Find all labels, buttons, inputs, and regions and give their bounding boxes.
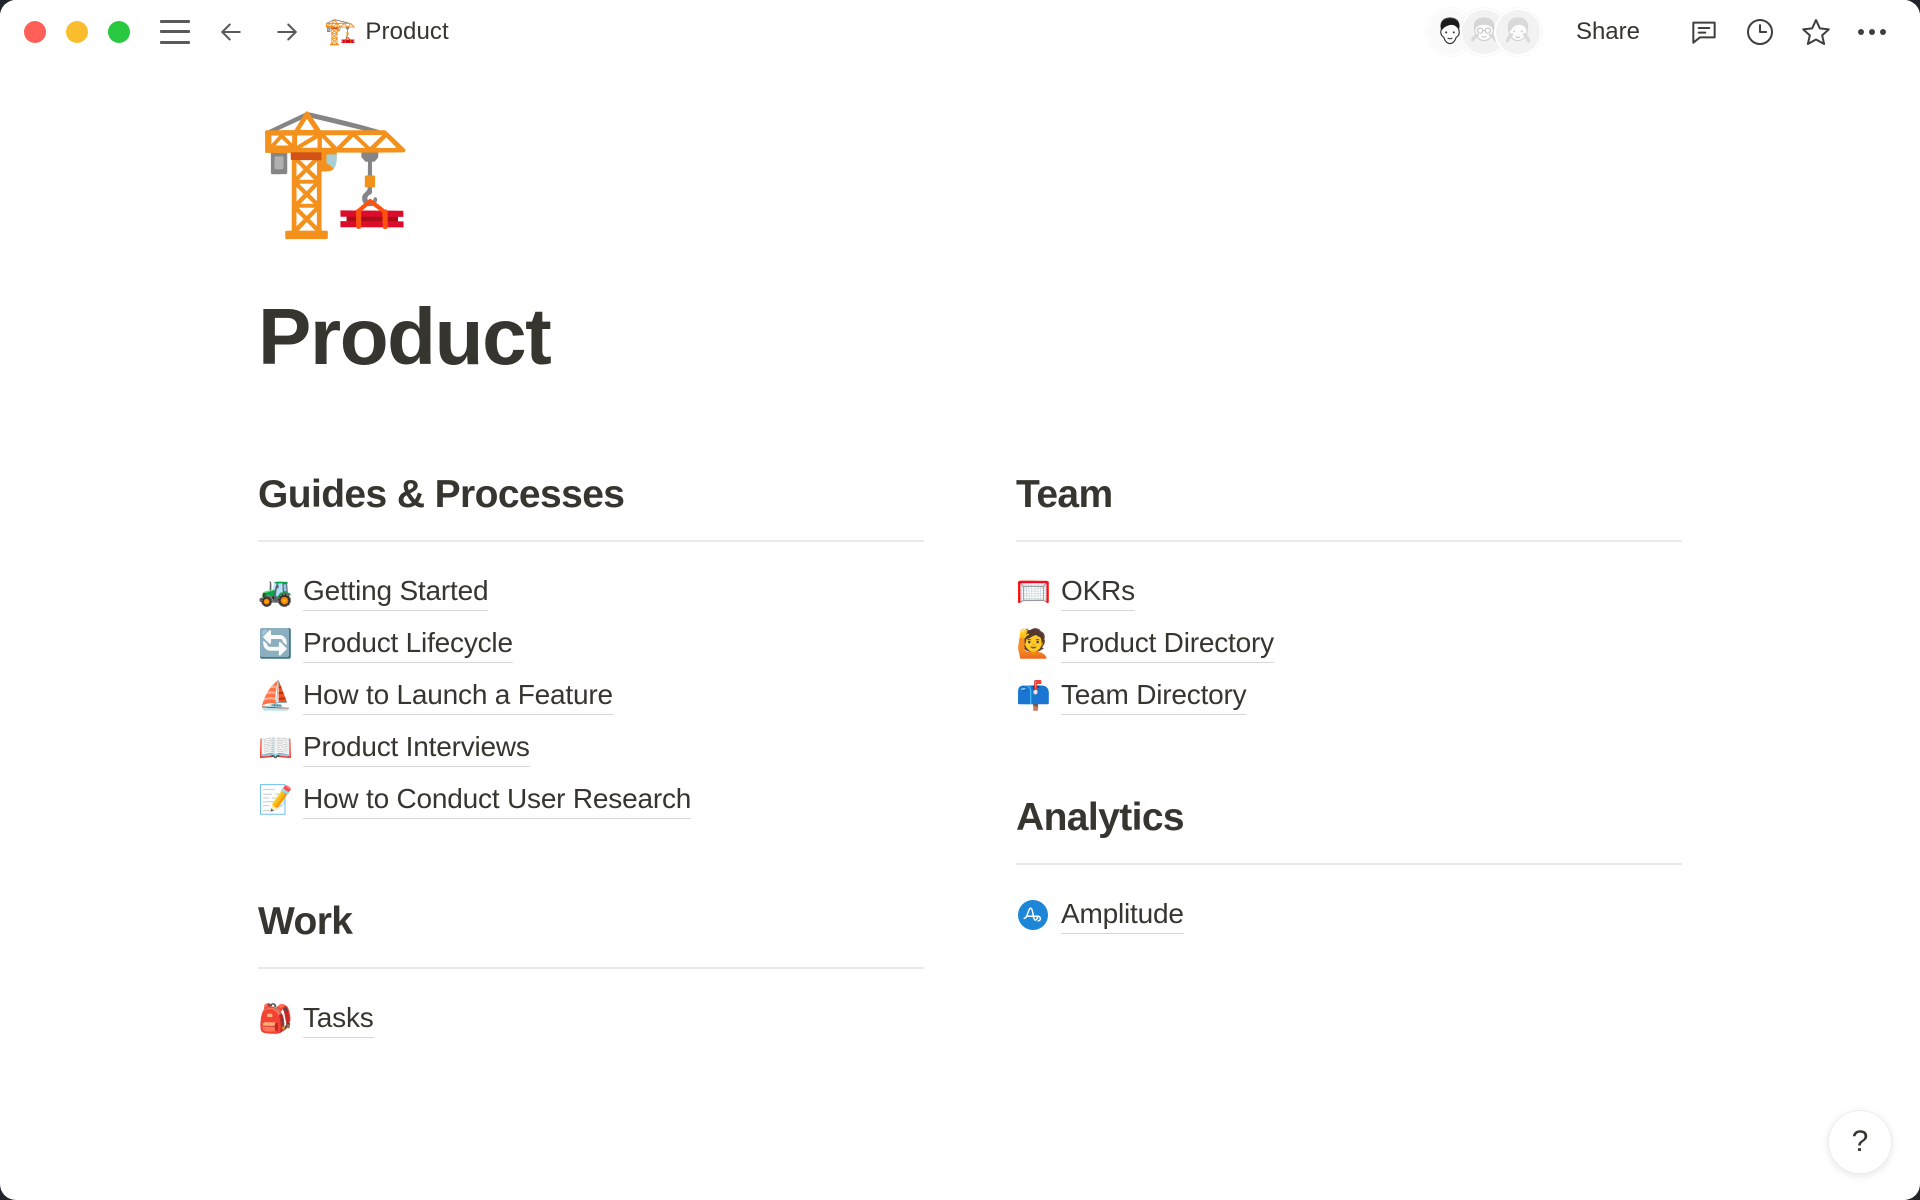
ellipsis-icon[interactable] [1850, 10, 1894, 54]
list-item[interactable]: 🎒 Tasks [258, 993, 924, 1045]
list-item[interactable]: 📫 Team Directory [1016, 670, 1682, 722]
list-item[interactable]: 🥅 OKRs [1016, 566, 1682, 618]
list-item-label[interactable]: OKRs [1061, 573, 1135, 611]
arrow-right-icon[interactable] [270, 15, 304, 49]
section-heading: Analytics [1016, 796, 1682, 841]
section-divider [1016, 540, 1682, 542]
page-title[interactable]: Product [258, 297, 1880, 377]
star-icon[interactable] [1794, 10, 1838, 54]
share-button[interactable]: Share [1576, 18, 1640, 46]
list-item-label[interactable]: Getting Started [303, 573, 488, 611]
list-item-label[interactable]: Product Interviews [303, 729, 530, 767]
titlebar-actions: Share [1426, 0, 1894, 63]
window-controls [24, 21, 130, 43]
content-columns: Guides & Processes 🚜 Getting Started 🔄 P… [258, 473, 1880, 1045]
tractor-icon: 🚜 [258, 578, 292, 606]
section-heading: Work [258, 900, 924, 945]
collaborator-avatars[interactable] [1426, 8, 1542, 56]
help-button[interactable]: ? [1828, 1110, 1892, 1174]
section-divider [258, 540, 924, 542]
mailbox-icon: 📫 [1016, 682, 1050, 710]
close-window-button[interactable] [24, 21, 46, 43]
goal-net-icon: 🥅 [1016, 578, 1050, 606]
page-content: 🏗️ Product Guides & Processes 🚜 Getting … [0, 107, 1920, 1045]
list-item-label[interactable]: Team Directory [1061, 677, 1246, 715]
backpack-icon: 🎒 [258, 1005, 292, 1033]
list-item-label[interactable]: How to Launch a Feature [303, 677, 613, 715]
section-heading: Guides & Processes [258, 473, 924, 518]
app-window: 🏗️ Product [0, 0, 1920, 1200]
list-item-label[interactable]: Amplitude [1061, 896, 1184, 934]
list-item-label[interactable]: How to Conduct User Research [303, 781, 691, 819]
sailboat-icon: ⛵ [258, 682, 292, 710]
arrows-counterclockwise-icon: 🔄 [258, 630, 292, 658]
section-heading: Team [1016, 473, 1682, 518]
titlebar: 🏗️ Product [0, 0, 1920, 63]
memo-icon: 📝 [258, 786, 292, 814]
amplitude-icon [1016, 900, 1050, 930]
list-item[interactable]: 🔄 Product Lifecycle [258, 618, 924, 670]
list-item-label[interactable]: Tasks [303, 1000, 374, 1038]
nav-icons [158, 15, 304, 49]
arrow-left-icon[interactable] [214, 15, 248, 49]
section-work: Work 🎒 Tasks [258, 900, 924, 1045]
section-divider [1016, 863, 1682, 865]
comment-icon[interactable] [1682, 10, 1726, 54]
list-item[interactable]: ⛵ How to Launch a Feature [258, 670, 924, 722]
list-item[interactable]: Amplitude [1016, 889, 1682, 941]
right-column: Team 🥅 OKRs 🙋 Product Directory 📫 Team D… [1016, 473, 1682, 1045]
section-divider [258, 967, 924, 969]
list-item[interactable]: 📝 How to Conduct User Research [258, 774, 924, 826]
section-team: Team 🥅 OKRs 🙋 Product Directory 📫 Team D… [1016, 473, 1682, 722]
list-item-label[interactable]: Product Directory [1061, 625, 1274, 663]
list-item[interactable]: 📖 Product Interviews [258, 722, 924, 774]
minimize-window-button[interactable] [66, 21, 88, 43]
section-guides-processes: Guides & Processes 🚜 Getting Started 🔄 P… [258, 473, 924, 826]
open-book-icon: 📖 [258, 734, 292, 762]
crane-icon: 🏗️ [324, 19, 356, 45]
list-item[interactable]: 🚜 Getting Started [258, 566, 924, 618]
clock-icon[interactable] [1738, 10, 1782, 54]
hamburger-icon[interactable] [158, 15, 192, 49]
section-analytics: Analytics Amplitude [1016, 796, 1682, 941]
list-item-label[interactable]: Product Lifecycle [303, 625, 513, 663]
breadcrumb-label: Product [365, 18, 448, 46]
list-item[interactable]: 🙋 Product Directory [1016, 618, 1682, 670]
maximize-window-button[interactable] [108, 21, 130, 43]
left-column: Guides & Processes 🚜 Getting Started 🔄 P… [258, 473, 924, 1045]
page-icon-crane[interactable]: 🏗️ [256, 107, 1880, 257]
breadcrumb[interactable]: 🏗️ Product [324, 18, 449, 46]
avatar[interactable] [1494, 8, 1542, 56]
raising-hand-icon: 🙋 [1016, 630, 1050, 658]
